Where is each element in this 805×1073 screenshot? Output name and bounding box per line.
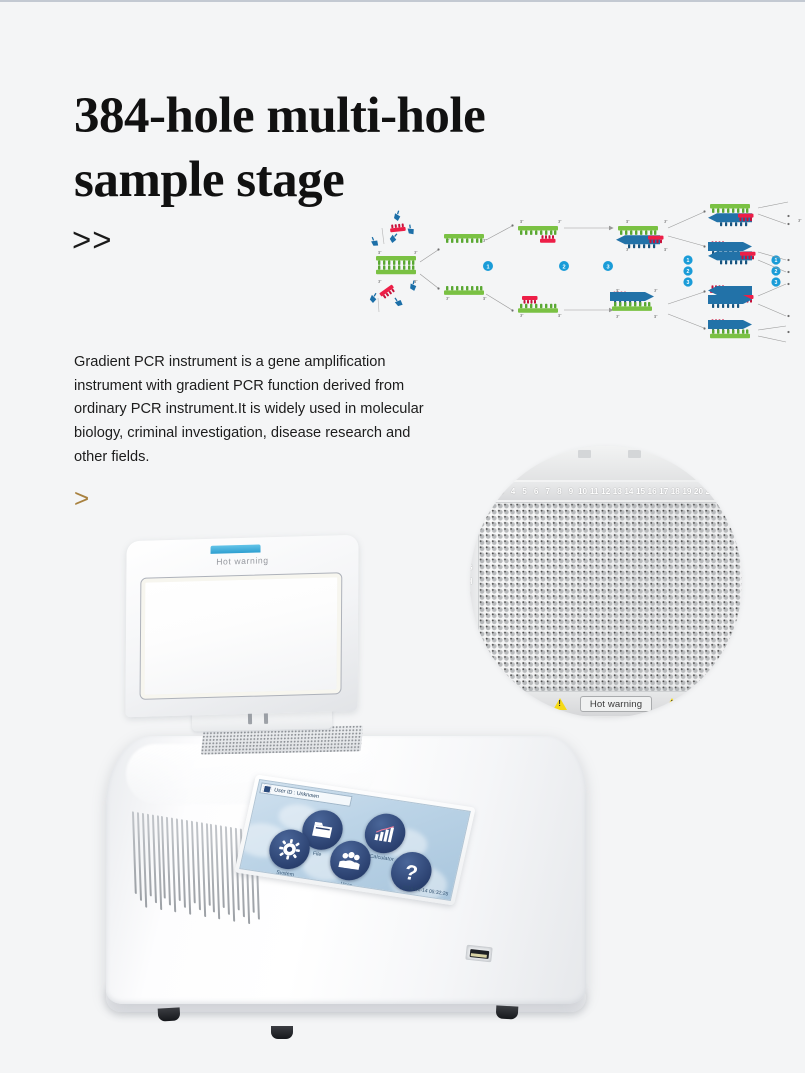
plate-column-label: 3 [496,487,508,496]
svg-text:5': 5' [378,250,382,255]
svg-text:5': 5' [558,313,562,318]
usb-port[interactable] [465,945,492,963]
hinge-slot-right [264,712,268,724]
instrument-vent-slit [147,814,152,897]
svg-text:5': 5' [483,296,487,301]
plate-column-label: 6 [530,487,542,496]
plate-column-label: 11 [588,487,600,496]
plate-column-label: 9 [565,487,577,496]
plate-column-label: 4 [507,487,519,496]
plate-tab-left [578,450,591,458]
plate-column-label: 22 [716,487,728,496]
svg-text:1: 1 [775,258,778,264]
plate-column-label: 15 [635,487,647,496]
svg-text:5': 5' [654,314,658,319]
instrument-vent-slit [181,819,186,908]
instrument-vent-slit [152,814,157,903]
instrument-vent-slit [200,822,205,917]
plate-column-label: 23 [727,487,739,496]
instrument-vent-slit [210,824,215,913]
instrument-vent-slit [142,813,147,908]
svg-text:2: 2 [687,269,690,275]
hinge-slot-left [248,712,252,724]
plate-column-label: 20 [693,487,705,496]
people-glyph [338,850,364,871]
instrument-vent-slit [166,817,171,906]
svg-text:3': 3' [446,296,450,301]
instrument-vent-slit [205,823,210,906]
svg-text:3: 3 [687,280,690,286]
folder-glyph [311,820,335,841]
svg-text:?: ? [402,861,420,884]
chart-glyph [372,823,398,844]
lid-accent-strip [211,544,261,553]
instrument-vent-slit [225,826,230,915]
svg-text:5': 5' [520,219,524,224]
plate-column-label: 19 [681,487,693,496]
screen-status-bar: User ID : Unknown [259,782,352,807]
plate-top-bar [470,446,742,480]
instrument-foot-left [158,1007,181,1021]
instrument-vent-slit [186,820,191,915]
svg-text:3': 3' [654,288,658,293]
svg-text:1: 1 [687,258,690,264]
instrument-vent-slit [161,816,166,899]
lid-window [141,573,342,699]
pcr-amplification-diagram: 5'3' 3'5' 5'3' 3'5' 5'3' 3'5' 5'3' 3'5' … [368,200,805,348]
plate-column-label: 10 [577,487,589,496]
question-mark-glyph: ? [400,860,423,884]
instrument-vent-slit [220,825,225,908]
svg-text:1: 1 [486,264,489,270]
plate-column-label: 8 [554,487,566,496]
instrument-vent-slit [176,818,181,901]
page-title-line-1: 384-hole multi-hole [74,84,634,148]
plate-tab-right [628,450,641,458]
instrument-foot-right [496,1005,519,1019]
gradient-pcr-thermal-cycler: Hot warning User ID : Unknown File [96,522,626,1047]
svg-text:3': 3' [616,314,620,319]
plate-column-label: 7 [542,487,554,496]
plate-column-label: 2 [484,487,496,496]
single-chevron-icon: > [74,483,89,514]
svg-text:3': 3' [664,219,668,224]
plate-column-label: 17 [658,487,670,496]
instrument-foot-center [271,1026,293,1039]
instrument-vent-slit [191,821,196,904]
gear-glyph [276,837,303,862]
plate-column-label: 14 [623,487,635,496]
svg-text:3': 3' [558,219,562,224]
svg-text:5': 5' [414,279,418,284]
double-chevron-icon: >> [72,221,113,259]
svg-text:3: 3 [606,264,609,270]
svg-text:5': 5' [626,219,630,224]
svg-text:3': 3' [414,250,418,255]
svg-text:2: 2 [562,264,565,270]
instrument-vent-slit [196,821,201,910]
plate-column-label: 13 [612,487,624,496]
svg-text:2: 2 [775,269,778,275]
usb-port-cavity [469,949,489,959]
plate-column-labels: 234567891011121314151617181920212223 [472,482,742,500]
screen-status-text: User ID : Unknown [274,787,320,800]
plate-column-label: 21 [704,487,716,496]
lid-hot-warning-text: Hot warning [126,553,358,569]
svg-text:3': 3' [483,238,487,243]
plate-column-label: 5 [519,487,531,496]
plate-column-label: 12 [600,487,612,496]
user-badge-icon [262,784,272,793]
plate-column-label: 16 [646,487,658,496]
svg-text:3': 3' [378,279,382,284]
instrument-lid[interactable]: Hot warning [125,535,358,718]
svg-text:3': 3' [520,313,524,318]
plate-column-label: 18 [670,487,682,496]
product-feature-page: { "page": { "background_color": "#f4f5f6… [0,0,805,1073]
product-description-text: Gradient PCR instrument is a gene amplif… [74,351,426,469]
warning-triangle-icon-right [665,698,679,710]
instrument-vent-slit [137,812,142,901]
page-title: 384-hole multi-hole sample stage [74,84,634,213]
pcr-diagram-svg: 5'3' 3'5' 5'3' 3'5' 5'3' 3'5' 5'3' 3'5' … [368,200,805,348]
svg-text:3': 3' [798,218,802,223]
product-description: Gradient PCR instrument is a gene amplif… [74,351,426,469]
svg-text:3: 3 [775,280,778,286]
svg-text:5': 5' [664,247,668,252]
